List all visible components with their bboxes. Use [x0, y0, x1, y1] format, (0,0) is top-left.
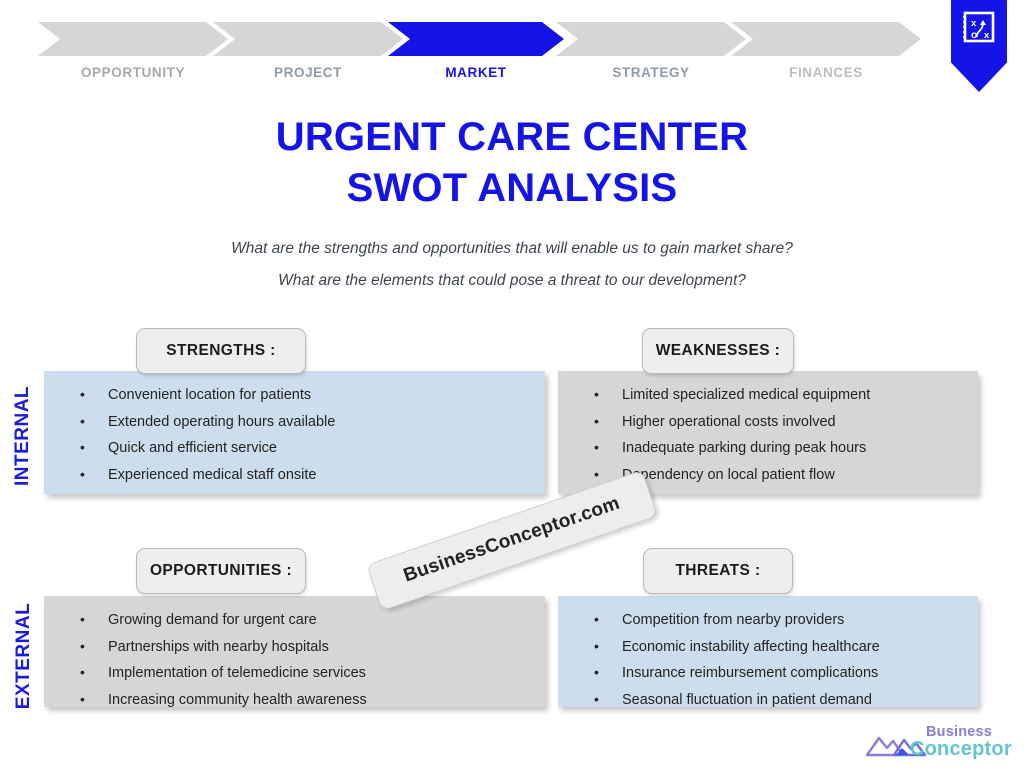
list-item: Inadequate parking during peak hours: [588, 441, 962, 456]
nav-step-opportunity[interactable]: OPPORTUNITY: [38, 22, 228, 80]
nav-step-label-project: PROJECT: [213, 65, 403, 80]
nav-step-finances[interactable]: FINANCES: [731, 22, 921, 80]
list-item: Quick and efficient service: [74, 441, 529, 456]
quadrant-label-threats: THREATS :: [643, 548, 793, 594]
strategy-playbook-icon: x o x: [951, 0, 1007, 92]
axis-label-external: EXTERNAL: [13, 601, 35, 711]
list-item: Higher operational costs involved: [588, 415, 962, 430]
list-item: Extended operating hours available: [74, 415, 529, 430]
list-item: Competition from nearby providers: [588, 613, 962, 628]
nav-step-strategy[interactable]: STRATEGY: [556, 22, 746, 80]
list-item: Implementation of telemedicine services: [74, 666, 529, 681]
threats-list: Competition from nearby providers Econom…: [558, 596, 978, 707]
chevron-shape-opportunity: [38, 22, 228, 56]
page-title: URGENT CARE CENTER SWOT ANALYSIS: [0, 112, 1024, 214]
list-item: Growing demand for urgent care: [74, 613, 529, 628]
quadrant-label-strengths: STRENGTHS :: [136, 328, 306, 374]
quadrant-opportunities: Growing demand for urgent care Partnersh…: [44, 596, 545, 707]
list-item: Limited specialized medical equipment: [588, 388, 962, 403]
page-title-line-2: SWOT ANALYSIS: [0, 163, 1024, 214]
brand-word-conceptor: Conceptor: [910, 738, 1012, 761]
process-step-nav: OPPORTUNITY PROJECT MARKET STRATEGY FINA…: [0, 0, 1024, 96]
opportunities-list: Growing demand for urgent care Partnersh…: [44, 596, 545, 707]
chevron-shape-project: [213, 22, 403, 56]
axis-label-internal: INTERNAL: [12, 381, 34, 491]
list-item: Partnerships with nearby hospitals: [74, 640, 529, 655]
page-title-line-1: URGENT CARE CENTER: [0, 112, 1024, 163]
nav-step-label-market: MARKET: [388, 65, 564, 80]
subtitle-question-1: What are the strengths and opportunities…: [0, 240, 1024, 258]
playbook-glyph: x o x: [962, 11, 996, 47]
strengths-list: Convenient location for patients Extende…: [44, 371, 545, 482]
list-item: Insurance reimbursement complications: [588, 666, 962, 681]
nav-step-label-opportunity: OPPORTUNITY: [38, 65, 228, 80]
nav-step-label-strategy: STRATEGY: [556, 65, 746, 80]
nav-step-market[interactable]: MARKET: [388, 22, 564, 80]
quadrant-label-weaknesses: WEAKNESSES :: [642, 328, 794, 374]
quadrant-strengths: Convenient location for patients Extende…: [44, 371, 545, 494]
list-item: Economic instability affecting healthcar…: [588, 640, 962, 655]
weaknesses-list: Limited specialized medical equipment Hi…: [558, 371, 978, 482]
quadrant-label-opportunities: OPPORTUNITIES :: [136, 548, 306, 594]
list-item: Seasonal fluctuation in patient demand: [588, 693, 962, 708]
svg-text:x: x: [971, 18, 977, 29]
quadrant-weaknesses: Limited specialized medical equipment Hi…: [558, 371, 978, 494]
chevron-shape-market: [388, 22, 564, 56]
quadrant-threats: Competition from nearby providers Econom…: [558, 596, 978, 707]
list-item: Experienced medical staff onsite: [74, 468, 529, 483]
brand-logo: Business Conceptor: [864, 720, 1016, 762]
chevron-shape-strategy: [556, 22, 746, 56]
nav-step-project[interactable]: PROJECT: [213, 22, 403, 80]
svg-text:x: x: [984, 30, 990, 41]
nav-step-label-finances: FINANCES: [731, 65, 921, 80]
chevron-shape-finances: [731, 22, 921, 56]
list-item: Increasing community health awareness: [74, 693, 529, 708]
subtitle-question-2: What are the elements that could pose a …: [0, 272, 1024, 290]
title-block: URGENT CARE CENTER SWOT ANALYSIS What ar…: [0, 112, 1024, 290]
list-item: Convenient location for patients: [74, 388, 529, 403]
